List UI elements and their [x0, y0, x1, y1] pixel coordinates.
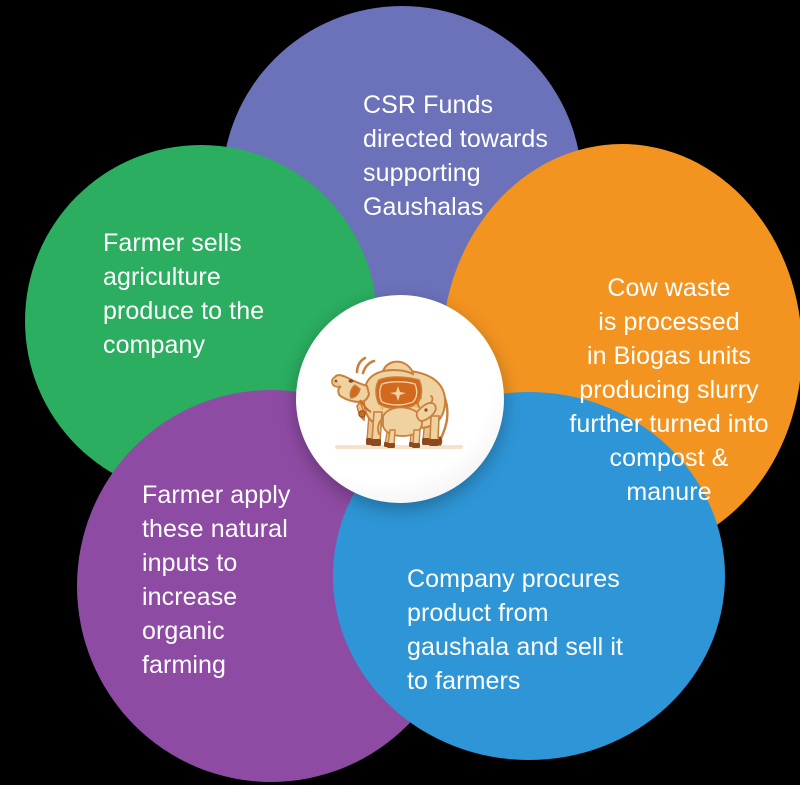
petal-label-cow-waste: Cow waste is processed in Biogas units p… — [555, 271, 783, 509]
petal-label-farmer-sells: Farmer sells agriculture produce to the … — [103, 226, 333, 362]
petal-label-farmer-apply: Farmer apply these natural inputs to inc… — [142, 478, 342, 682]
cow-and-calf-icon — [327, 340, 473, 458]
center-medallion[interactable] — [296, 295, 504, 503]
petal-label-csr-funds: CSR Funds directed towards supporting Ga… — [363, 88, 583, 224]
flower-diagram: CSR Funds directed towards supporting Ga… — [0, 0, 800, 785]
petal-label-company-procures: Company procures product from gaushala a… — [407, 562, 639, 698]
